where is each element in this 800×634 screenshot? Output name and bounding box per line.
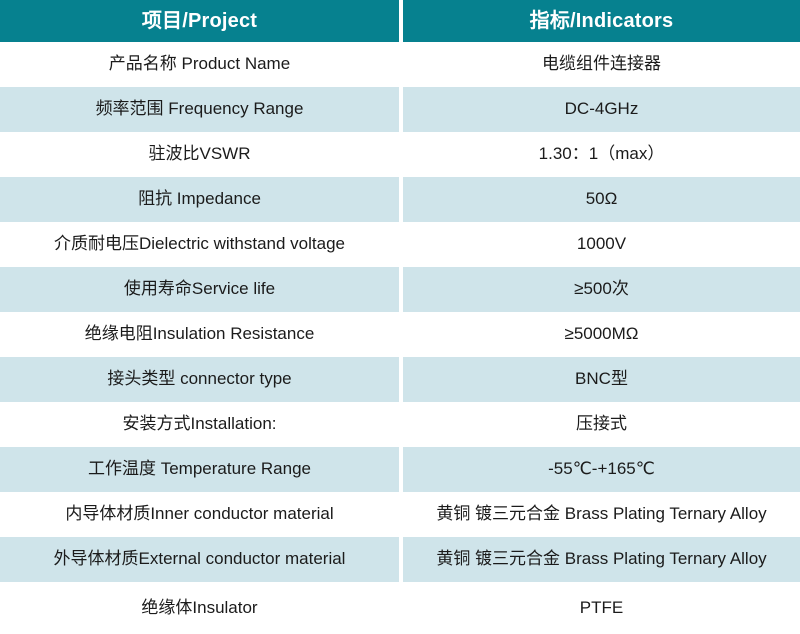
- cell-project: 驻波比VSWR: [0, 132, 399, 177]
- cell-project: 频率范围 Frequency Range: [0, 87, 399, 132]
- table-row: 阻抗 Impedance 50Ω: [0, 177, 800, 222]
- cell-indicator: 黄铜 镀三元合金 Brass Plating Ternary Alloy: [403, 492, 800, 537]
- table-row: 产品名称 Product Name 电缆组件连接器: [0, 42, 800, 87]
- cell-project: 安装方式Installation:: [0, 402, 399, 447]
- specification-table: 项目/Project 指标/Indicators 产品名称 Product Na…: [0, 0, 800, 634]
- table-header-row: 项目/Project 指标/Indicators: [0, 0, 800, 42]
- table-row: 工作温度 Temperature Range -55℃-+165℃: [0, 447, 800, 492]
- cell-indicator: 1.30：1（max）: [403, 132, 800, 177]
- cell-project: 外导体材质External conductor material: [0, 537, 399, 582]
- cell-indicator: 黄铜 镀三元合金 Brass Plating Ternary Alloy: [403, 537, 800, 582]
- cell-project: 接头类型 connector type: [0, 357, 399, 402]
- table-row: 绝缘电阻Insulation Resistance ≥5000MΩ: [0, 312, 800, 357]
- cell-indicator: 电缆组件连接器: [403, 42, 800, 87]
- cell-indicator: ≥5000MΩ: [403, 312, 800, 357]
- table-row: 安装方式Installation: 压接式: [0, 402, 800, 447]
- cell-indicator: 50Ω: [403, 177, 800, 222]
- table-row: 介质耐电压Dielectric withstand voltage 1000V: [0, 222, 800, 267]
- column-header-indicators: 指标/Indicators: [403, 0, 800, 42]
- table-row: 外导体材质External conductor material 黄铜 镀三元合…: [0, 537, 800, 582]
- table-row: 频率范围 Frequency Range DC-4GHz: [0, 87, 800, 132]
- table-row: 驻波比VSWR 1.30：1（max）: [0, 132, 800, 177]
- cell-indicator: BNC型: [403, 357, 800, 402]
- cell-project: 介质耐电压Dielectric withstand voltage: [0, 222, 399, 267]
- cell-project: 阻抗 Impedance: [0, 177, 399, 222]
- cell-project: 绝缘电阻Insulation Resistance: [0, 312, 399, 357]
- table-row: 接头类型 connector type BNC型: [0, 357, 800, 402]
- cell-indicator: -55℃-+165℃: [403, 447, 800, 492]
- cell-project: 绝缘体Insulator: [0, 582, 399, 634]
- cell-indicator: 压接式: [403, 402, 800, 447]
- table-row: 使用寿命Service life ≥500次: [0, 267, 800, 312]
- column-header-project: 项目/Project: [0, 0, 399, 42]
- cell-indicator: PTFE: [403, 582, 800, 634]
- cell-indicator: DC-4GHz: [403, 87, 800, 132]
- cell-project: 使用寿命Service life: [0, 267, 399, 312]
- cell-indicator: ≥500次: [403, 267, 800, 312]
- cell-project: 工作温度 Temperature Range: [0, 447, 399, 492]
- table-row: 绝缘体Insulator PTFE: [0, 582, 800, 634]
- cell-project: 内导体材质Inner conductor material: [0, 492, 399, 537]
- cell-project: 产品名称 Product Name: [0, 42, 399, 87]
- cell-indicator: 1000V: [403, 222, 800, 267]
- table-row: 内导体材质Inner conductor material 黄铜 镀三元合金 B…: [0, 492, 800, 537]
